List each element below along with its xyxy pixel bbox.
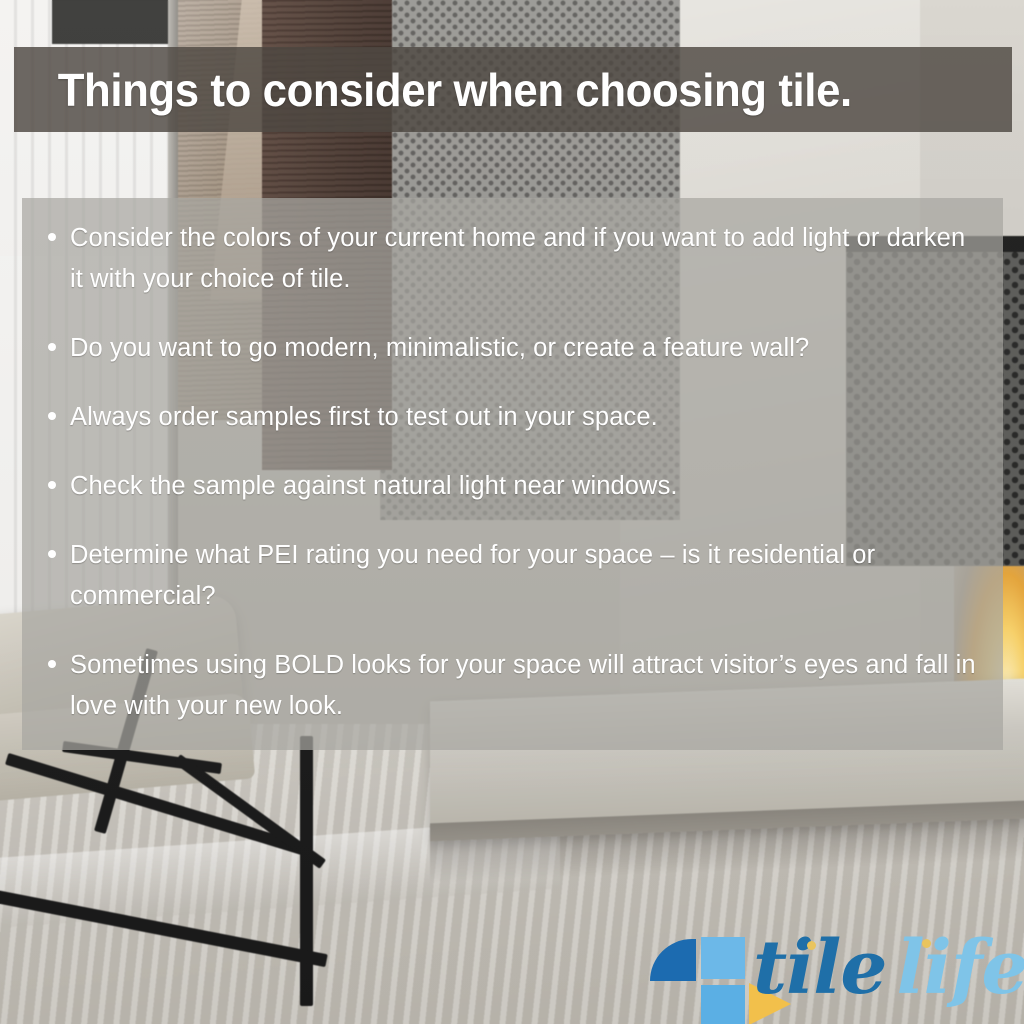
list-item-text: Always order samples first to test out i… bbox=[70, 397, 658, 438]
bullet-dot-icon bbox=[48, 481, 56, 489]
list-item: Sometimes using BOLD looks for your spac… bbox=[48, 645, 977, 727]
list-item-text: Do you want to go modern, minimalistic, … bbox=[70, 328, 809, 369]
bullet-dot-icon bbox=[48, 412, 56, 420]
logo-i-dot-icon bbox=[922, 939, 931, 948]
list-item: Consider the colors of your current home… bbox=[48, 218, 977, 300]
list-item-text: Determine what PEI rating you need for y… bbox=[70, 535, 977, 617]
logo-square-bottom-shape bbox=[701, 985, 745, 1024]
list-item-text: Sometimes using BOLD looks for your spac… bbox=[70, 645, 977, 727]
logo-word-tile: tile bbox=[753, 925, 887, 1011]
logo-wordmark: tilelife bbox=[753, 925, 1024, 1011]
title-bar: Things to consider when choosing tile. bbox=[14, 47, 1012, 132]
list-item-text: Consider the colors of your current home… bbox=[70, 218, 977, 300]
content-panel: Consider the colors of your current home… bbox=[22, 198, 1003, 750]
logo-word-life: life bbox=[897, 925, 1024, 1011]
bullet-dot-icon bbox=[48, 233, 56, 241]
list-item: Do you want to go modern, minimalistic, … bbox=[48, 328, 977, 369]
brand-logo[interactable]: tilelife bbox=[645, 925, 1015, 1021]
list-item: Always order samples first to test out i… bbox=[48, 397, 977, 438]
logo-i-dot-icon bbox=[807, 941, 816, 950]
tile-life-logo-mark-icon bbox=[645, 933, 765, 1015]
tips-list: Consider the colors of your current home… bbox=[22, 198, 1003, 727]
bullet-dot-icon bbox=[48, 550, 56, 558]
logo-quarter-circle-shape bbox=[650, 939, 696, 981]
page-title: Things to consider when choosing tile. bbox=[14, 63, 852, 117]
bullet-dot-icon bbox=[48, 343, 56, 351]
list-item: Check the sample against natural light n… bbox=[48, 466, 977, 507]
list-item: Determine what PEI rating you need for y… bbox=[48, 535, 977, 617]
bullet-dot-icon bbox=[48, 660, 56, 668]
logo-square-top-shape bbox=[701, 937, 745, 979]
list-item-text: Check the sample against natural light n… bbox=[70, 466, 678, 507]
infographic-canvas: Things to consider when choosing tile. C… bbox=[0, 0, 1024, 1024]
